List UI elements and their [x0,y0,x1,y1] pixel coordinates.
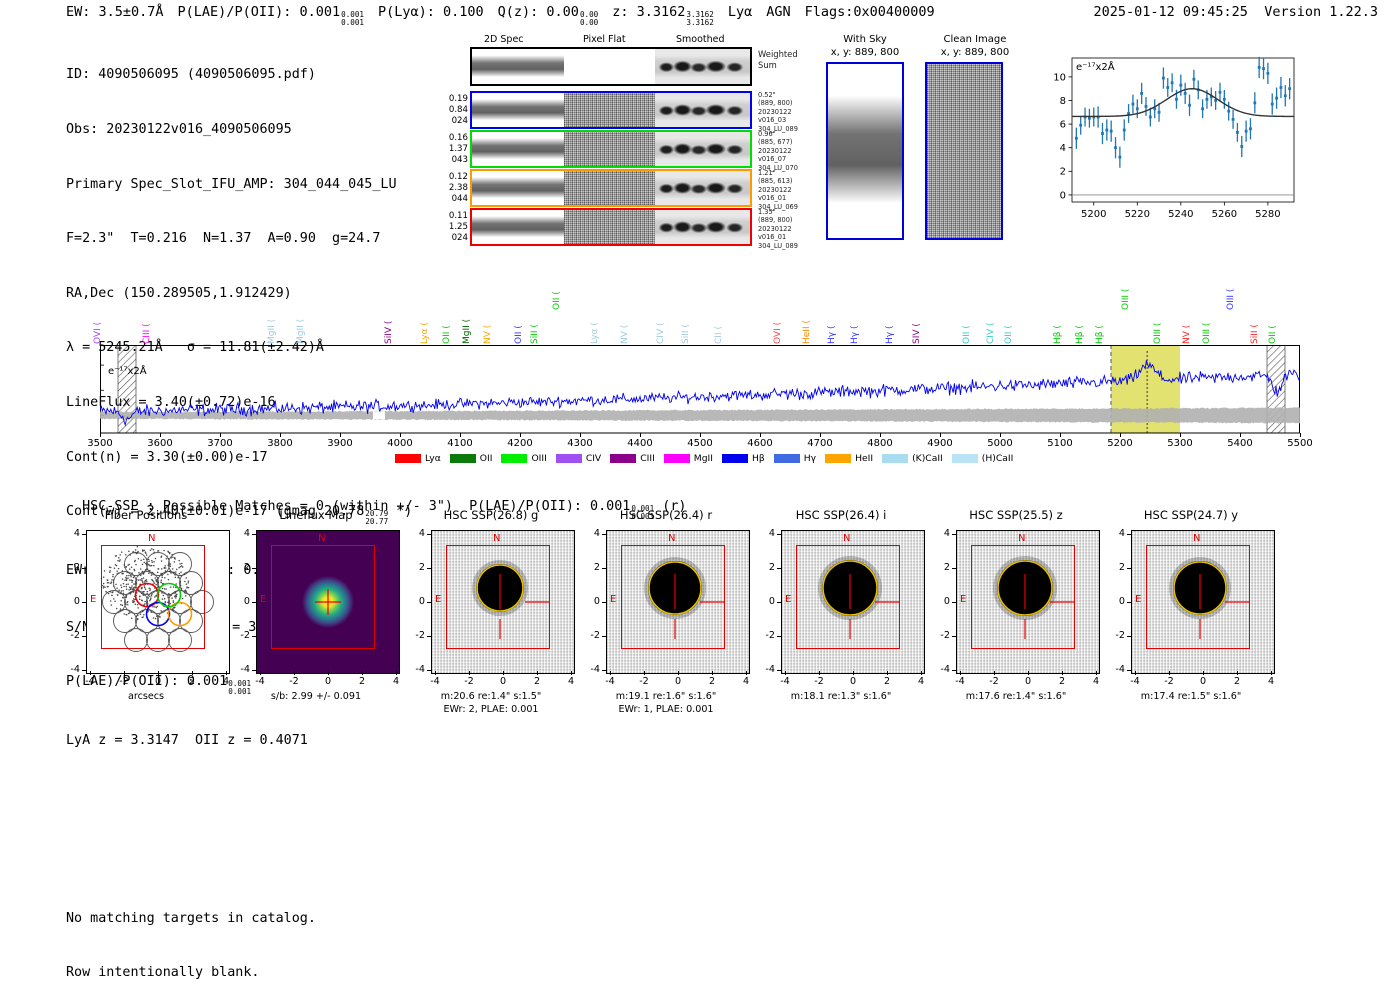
legend-swatch [952,454,978,463]
line-profile-svg: 024681052005220524052605280e⁻¹⁷x2Å [1040,50,1300,242]
xaxis-tick [1000,433,1001,437]
panel-ytick [427,670,431,671]
emission-line-label-text: OIII ( [1121,289,1131,310]
panel-ytick [1127,602,1131,603]
emission-line-label-text: OII ( [442,325,452,344]
header-ew: EW: 3.5±0.7Å [66,4,164,20]
panel-xtick-label: 4 [909,676,933,687]
panel-xtick-label: 2 [180,676,204,687]
north-marker: N [1193,533,1200,544]
xaxis-tick [100,433,101,437]
panel-ytick-label: 4 [409,528,425,539]
panel-ytick [952,534,956,535]
fiber-left-labels: 0.161.37043 [428,133,468,166]
panel-xtick [746,671,747,675]
fiber-smoothed [655,93,750,127]
panel-ytick [952,636,956,637]
panel-xtick [192,671,193,675]
east-marker: E [960,594,966,605]
svg-text:5240: 5240 [1168,209,1193,220]
fiber-2dspec [472,171,564,205]
panel-xtick [610,671,611,675]
panel-xtick-label: 4 [734,676,758,687]
field-box [446,545,550,649]
emission-line-label-text: MgII ( [462,319,472,344]
header-datetime: 2025-01-12 09:45:25 [1094,4,1248,20]
xaxis-tick [1180,433,1181,437]
fiber-2dspec [472,210,564,244]
weighted-sum-2dspec [472,49,564,84]
xaxis-tick-label: 4300 [564,438,596,449]
panel-xtick [435,671,436,675]
legend-item: CIII [610,453,655,464]
xaxis-tick [820,433,821,437]
fiber-right-labels: 1.35"(889, 800)20230122v016_01304_LU_089 [758,208,816,250]
legend-label: (H)CaII [982,453,1014,464]
panel-ytick-label: -4 [934,664,950,675]
panel-ytick [602,670,606,671]
panel-ytick-label: 2 [759,562,775,573]
east-marker: E [1135,594,1141,605]
panel-xtick-label: 0 [316,676,340,687]
panel-ytick-label: 2 [64,562,80,573]
east-marker: E [435,594,441,605]
panel-ytick [602,568,606,569]
panel-ytick [952,670,956,671]
panel-xtick-label: 2 [700,676,724,687]
legend-item: OII [450,453,493,464]
panel-caption: m:20.6 re:1.4" s:1.5"EWr: 2, PLAE: 0.001 [401,690,581,716]
panel-xtick-label: -4 [948,676,972,687]
fiber-pixelflat [564,210,656,244]
panel-xtick-label: 2 [1225,676,1249,687]
panel-ytick [952,568,956,569]
panel-xtick-label: -2 [282,676,306,687]
xaxis-tick [940,433,941,437]
east-marker: E [610,594,616,605]
panel-ytick-label: -2 [64,630,80,641]
line-profile-plot: 024681052005220524052605280e⁻¹⁷x2Å [1040,50,1300,242]
svg-text:0: 0 [1060,190,1066,201]
xaxis-tick-label: 5100 [1044,438,1076,449]
emission-line-label-text: Hγ ( [850,326,860,344]
panel-caption: m:17.6 re:1.4" s:1.6" [926,690,1106,703]
panel-ytick [777,534,781,535]
svg-text:5280: 5280 [1255,209,1280,220]
panel-xtick [921,671,922,675]
legend-label: MgII [694,453,713,464]
fiber-2dspec [472,93,564,127]
xaxis-tick-label: 4600 [744,438,776,449]
svg-text:6: 6 [1060,119,1066,130]
svg-text:8: 8 [1060,96,1066,107]
header-class: AGN [766,4,790,20]
panel-ytick-label: 2 [409,562,425,573]
panel-xtick-label: 4 [214,676,238,687]
withsky-title: With Skyx, y: 889, 800 [820,34,910,59]
panel-image[interactable] [256,530,400,674]
panel-ytick-label: -2 [934,630,950,641]
emission-line-label-text: OII ( [1268,325,1278,344]
panel-xtick [124,671,125,675]
panel-xtick [1062,671,1063,675]
panel-ytick [1127,534,1131,535]
panel-ytick [777,636,781,637]
fiber-left-labels: 0.190.84024 [428,94,468,127]
legend-item: OIII [501,453,546,464]
panel-ytick-label: -4 [409,664,425,675]
panel-xtick [260,671,261,675]
emission-line-label-text: OII ( [962,325,972,344]
emission-line-label-text: CII ( [714,326,724,344]
panel-ytick [252,602,256,603]
panel-title: HSC SSP(24.7) y [1107,508,1275,522]
panel-ytick [82,636,86,637]
panel-ytick-label: 0 [934,596,950,607]
xaxis-tick-label: 5200 [1104,438,1136,449]
panel-title: HSC SSP(25.5) z [932,508,1100,522]
panel-caption: m:19.1 re:1.6" s:1.6"EWr: 1, PLAE: 0.001 [576,690,756,716]
north-marker: N [148,533,155,544]
legend-label: OIII [531,453,546,464]
xaxis-tick-label: 3800 [264,438,296,449]
header-z-range: 3.31623.3162 [686,11,713,26]
legend-swatch [610,454,636,463]
panel-xtick [712,671,713,675]
panel-xtick-label: -2 [632,676,656,687]
emission-line-label-text: MgII ( [267,319,277,344]
panel-xtick [328,671,329,675]
panel-caption: m:17.4 re:1.5" s:1.6" [1101,690,1281,703]
fiber-smoothed [655,210,750,244]
emission-line-label-text: OIII ( [1153,323,1163,344]
legend-swatch [501,454,527,463]
xaxis-tick-label: 4200 [504,438,536,449]
legend-swatch [556,454,582,463]
xaxis-tick [280,433,281,437]
panel-xtick-label: -2 [807,676,831,687]
panel-ytick [252,568,256,569]
fiber-2dspec [472,132,564,166]
emission-line-label-text: OIII ( [1202,323,1212,344]
panel-ytick [602,636,606,637]
header-plya: P(Lyα): 0.100 [378,4,484,20]
panel-caption-line-1: m:18.1 re:1.3" s:1.6" [751,690,931,703]
north-marker: N [668,533,675,544]
panel-ytick-label: 4 [934,528,950,539]
xaxis-tick-label: 3900 [324,438,356,449]
legend-swatch [825,454,851,463]
legend-label: Hγ [804,453,816,464]
emission-line-label-text: Hβ ( [1075,325,1085,344]
weighted-sum-pixelflat [564,49,656,84]
xaxis-tick [340,433,341,437]
panel-ytick [82,534,86,535]
info-id: ID: 4090506095 (4090506095.pdf) [66,66,412,84]
panel-ytick-label: -4 [584,664,600,675]
fiber-right-labels: 0.96"(885, 677)20230122v016_07304_LU_070 [758,130,816,172]
emission-line-label-text: NV ( [620,325,630,344]
fiber-smoothed [655,132,750,166]
emission-line-label-text: SiII ( [681,324,691,344]
xaxis-tick [1240,433,1241,437]
legend-swatch [450,454,476,463]
panel-caption-line-2: EWr: 2, PLAE: 0.001 [401,703,581,716]
panel-xtick-label: 0 [666,676,690,687]
panel-xtick-label: -2 [1157,676,1181,687]
panel-ytick-label: 0 [759,596,775,607]
panel-xtick [1169,671,1170,675]
panel-image[interactable] [781,530,925,674]
panel-xtick-label: 0 [1191,676,1215,687]
emission-line-label-text: OVI ( [773,322,783,344]
legend-label: OII [480,453,493,464]
panel-xtick-label: -2 [112,676,136,687]
fiber-right-labels: 1.21"(885, 613)20230122v016_01304_LU_069 [758,169,816,211]
panel-ytick-label: 2 [934,562,950,573]
panel-image[interactable] [1131,530,1275,674]
full-spectrum-xaxis: 3500360037003800390040004100420043004400… [100,433,1300,451]
xaxis-tick [640,433,641,437]
xaxis-tick [760,433,761,437]
xaxis-tick [1060,433,1061,437]
legend-item: HeII [825,453,873,464]
emission-line-label-text: CIV ( [656,323,666,344]
panel-xtick [853,671,854,675]
panel-ytick-label: 0 [1109,596,1125,607]
weighted-sum-row [470,47,752,86]
panel-xtick [537,671,538,675]
field-box [621,545,725,649]
panel-xtick-label: -4 [78,676,102,687]
full-spectrum-plot: 0510e⁻¹⁷x2Å [100,345,1300,433]
xaxis-tick-label: 4500 [684,438,716,449]
panel-ytick-label: 2 [234,562,250,573]
panel-xtick-label: 4 [1259,676,1283,687]
panel-caption-line-1: m:17.4 re:1.5" s:1.6" [1101,690,1281,703]
panel-ytick [777,568,781,569]
xaxis-tick-label: 4100 [444,438,476,449]
panel-xtick [960,671,961,675]
xaxis-tick-label: 4900 [924,438,956,449]
svg-text:5220: 5220 [1125,209,1150,220]
svg-text:e⁻¹⁷x2Å: e⁻¹⁷x2Å [108,364,147,377]
svg-text:e⁻¹⁷x2Å: e⁻¹⁷x2Å [1076,60,1115,73]
emission-line-label-text: Hβ ( [1053,325,1063,344]
emission-line-label-text: NV ( [1182,325,1192,344]
panel-xtick [1237,671,1238,675]
panel-ytick [252,670,256,671]
fiber-row [470,208,752,246]
fiber-row [470,130,752,168]
svg-text:5200: 5200 [1081,209,1106,220]
xaxis-tick-label: 3700 [204,438,236,449]
fiber-pixelflat [564,171,656,205]
col-title-2dspec: 2D Spec [484,34,524,45]
panel-image[interactable] [956,530,1100,674]
header-version-block: 2025-01-12 09:45:25 Version 1.22.3 [1094,4,1379,20]
legend-item: Hγ [774,453,816,464]
weighted-sum-label: WeightedSum [758,49,816,70]
panel-ytick-label: -2 [409,630,425,641]
panel-caption: s/b: 2.99 +/- 0.091 [226,690,406,703]
panel-xtick-label: 2 [525,676,549,687]
xaxis-tick-label: 4800 [864,438,896,449]
legend-label: CIII [640,453,655,464]
xaxis-tick-label: 5000 [984,438,1016,449]
panel-ytick [82,670,86,671]
field-box [971,545,1075,649]
fiber-pixelflat [564,93,656,127]
xaxis-tick [580,433,581,437]
panel-image[interactable] [86,530,230,674]
legend-label: Lyα [425,453,441,464]
emission-line-label-text: SiII ( [530,324,540,344]
panel-ytick [777,602,781,603]
cleanimage-title: Clean Imagex, y: 889, 800 [925,34,1025,59]
xaxis-tick [1120,433,1121,437]
panel-ytick [1127,636,1131,637]
panel-ytick [427,534,431,535]
panel-ytick-label: 0 [584,596,600,607]
panel-xtick [1096,671,1097,675]
panel-title: HSC SSP(26.4) i [757,508,925,522]
svg-text:2: 2 [1060,167,1066,178]
panel-xtick [1028,671,1029,675]
panel-ytick-label: 0 [409,596,425,607]
emission-line-label-text: SIV ( [912,323,922,344]
panel-ytick-label: -2 [1109,630,1125,641]
panel-xtick-label: 2 [1050,676,1074,687]
xaxis-tick [880,433,881,437]
xaxis-tick-label: 4700 [804,438,836,449]
info-obs: Obs: 20230122v016_4090506095 [66,121,412,139]
emission-line-label-text: OII ( [552,291,562,310]
col-title-pixelflat: Pixel Flat [583,34,626,45]
fiber-row [470,91,752,129]
emission-line-label-text: OII ( [1004,325,1014,344]
north-marker: N [843,533,850,544]
panel-ytick [252,636,256,637]
east-marker: E [785,594,791,605]
emission-line-label-text: Hβ ( [1095,325,1105,344]
panel-xtick-label: 4 [1084,676,1108,687]
emission-line-label-text: Lyα ( [590,322,600,344]
panel-xtick [469,671,470,675]
panel-caption: m:18.1 re:1.3" s:1.6" [751,690,931,703]
panel-xtick-label: -4 [423,676,447,687]
panel-xtick [785,671,786,675]
north-marker: N [493,533,500,544]
panel-ytick-label: -2 [584,630,600,641]
panel-ytick [427,568,431,569]
xaxis-tick [220,433,221,437]
panel-xtick [819,671,820,675]
footer-line-1: No matching targets in catalog. [66,910,316,928]
field-box [1146,545,1250,649]
emission-line-label-text: Hγ ( [827,326,837,344]
panel-ytick-label: 2 [1109,562,1125,573]
legend-swatch [395,454,421,463]
panel-xtick-label: 4 [384,676,408,687]
panel-ytick-label: -4 [64,664,80,675]
panel-xtick [678,671,679,675]
emission-line-label-text: OII ( [514,325,524,344]
panel-image[interactable] [431,530,575,674]
panel-image[interactable] [606,530,750,674]
panel-xtick-label: 2 [875,676,899,687]
panel-ytick-label: 2 [584,562,600,573]
info-seeing: F=2.3" T=0.216 N=1.37 A=0.90 g=24.7 [66,230,412,248]
panel-xtick-label: 4 [559,676,583,687]
panel-xtick-label: -2 [457,676,481,687]
xaxis-tick [1300,433,1301,437]
legend-item: (H)CaII [952,453,1014,464]
panel-ytick-label: 4 [584,528,600,539]
svg-text:4: 4 [1060,143,1066,154]
legend-label: Hβ [752,453,765,464]
panel-ytick-label: 4 [759,528,775,539]
panel-ytick [252,534,256,535]
xaxis-tick-label: 3600 [144,438,176,449]
panel-ytick-label: -2 [234,630,250,641]
fiber-smoothed [655,171,750,205]
panel-title: Lineflux Map [232,508,400,522]
emission-line-label-text: SiIV ( [384,321,394,344]
panel-xtick [90,671,91,675]
field-box [101,545,205,649]
panel-xtick-label: 0 [491,676,515,687]
panel-caption-line-1: m:20.6 re:1.4" s:1.5" [401,690,581,703]
legend-item: (K)CaII [882,453,943,464]
panel-caption-line-2: EWr: 1, PLAE: 0.001 [576,703,756,716]
xaxis-tick-label: 5400 [1224,438,1256,449]
panel-xtick-label: 0 [1016,676,1040,687]
xaxis-tick-label: 4400 [624,438,656,449]
panel-xtick-label: 0 [146,676,170,687]
emission-line-label-row: OVI (CIII (MgII (MgII (SiIV (Lyα (OII (M… [100,272,1300,344]
fiber-left-labels: 0.111.25024 [428,211,468,244]
panel-ytick-label: 0 [234,596,250,607]
panel-caption-line-1: m:19.1 re:1.6" s:1.6" [576,690,756,703]
panel-xtick [362,671,363,675]
panel-xtick [503,671,504,675]
panel-xtick-label: 2 [350,676,374,687]
panel-xtick-label: 0 [841,676,865,687]
xaxis-tick [460,433,461,437]
panel-ytick-label: 0 [64,596,80,607]
panel-xtick [396,671,397,675]
header-qz: Q(z): 0.000.000.00 [498,4,599,20]
panel-ytick [952,602,956,603]
panel-ytick [427,602,431,603]
xaxis-tick [160,433,161,437]
emission-line-label-text: OIII ( [1226,289,1236,310]
panel-ytick [1127,568,1131,569]
panel-caption-line-1: arcsecs [56,690,236,703]
panel-xtick [158,671,159,675]
panel-title: HSC SSP(26.4) r [582,508,750,522]
legend-item: Hβ [722,453,765,464]
panel-xtick [226,671,227,675]
header-version: Version 1.22.3 [1264,4,1378,20]
panel-caption-line-1: m:17.6 re:1.4" s:1.6" [926,690,1106,703]
xaxis-tick [700,433,701,437]
weighted-sum-smoothed [655,49,750,84]
fiber-pixelflat [564,132,656,166]
panel-caption: arcsecs [56,690,236,703]
withsky-cutout [826,62,904,240]
